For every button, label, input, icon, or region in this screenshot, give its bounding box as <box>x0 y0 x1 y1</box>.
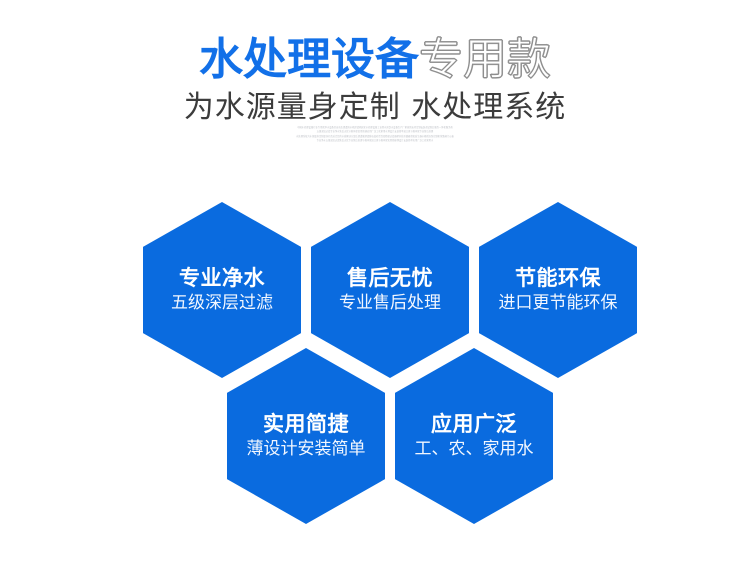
hex-cell-subtitle: 专业售后处理 <box>339 293 441 313</box>
hex-cell-title: 专业净水 <box>179 266 265 290</box>
hex-cell-wide-application[interactable]: 应用广泛 工、农、家用水 <box>395 348 553 524</box>
hex-cell-energy-saving[interactable]: 节能环保 进口更节能环保 <box>479 202 637 378</box>
hex-cell-practical-simple[interactable]: 实用简捷 薄设计安装简单 <box>227 348 385 524</box>
hex-cell-title: 实用简捷 <box>263 412 349 436</box>
honeycomb-grid: 专业净水 五级深层过滤 售后无忧 专业售后处理 节能环保 进口更节能环保 实用简… <box>0 0 750 588</box>
hex-cell-subtitle: 五级深层过滤 <box>171 293 273 313</box>
hex-cell-subtitle: 薄设计安装简单 <box>247 439 366 459</box>
hex-cell-subtitle: 进口更节能环保 <box>499 293 618 313</box>
hex-cell-title: 应用广泛 <box>431 412 517 436</box>
hex-cell-subtitle: 工、农、家用水 <box>415 439 534 459</box>
hex-cell-professional-purification[interactable]: 专业净水 五级深层过滤 <box>143 202 301 378</box>
hex-cell-title: 售后无忧 <box>347 266 433 290</box>
promo-banner: 水处理设备专用款 为水源量身定制 水处理系统 中国水处理设备行业专用款净水设备全… <box>0 0 750 588</box>
hex-cell-after-sales[interactable]: 售后无忧 专业售后处理 <box>311 202 469 378</box>
hex-cell-title: 节能环保 <box>515 266 601 290</box>
